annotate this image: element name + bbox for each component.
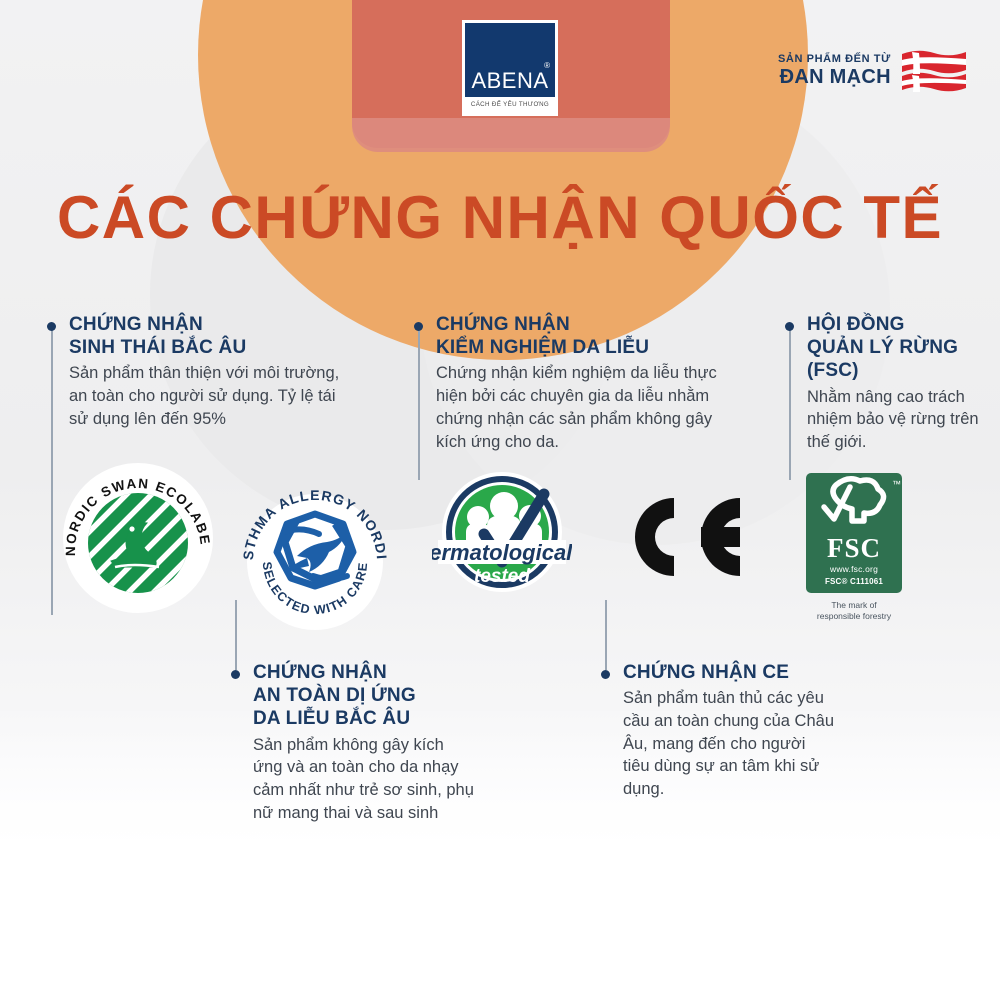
abena-logo: ABENA ® CÁCH ĐỂ YÊU THƯƠNG	[462, 20, 558, 116]
info-block-body: Sản phẩm không gây kích ứng và an toàn c…	[253, 734, 476, 825]
derm-label-line1: Dermatologically	[432, 540, 572, 565]
bullet-icon	[785, 322, 794, 331]
fsc-caption: The mark of responsible forestry	[806, 600, 902, 622]
background-white-fade	[0, 700, 1000, 1000]
origin-line-1: SẢN PHẨM ĐẾN TỪ	[778, 53, 891, 67]
fsc-tm-mark: ™	[892, 479, 901, 489]
background-coral-card-foot	[352, 118, 670, 152]
badge-dermatologically-tested: Dermatologically tested	[432, 470, 572, 590]
infographic-page: ABENA ® CÁCH ĐỂ YÊU THƯƠNG SẢN PHẨM ĐẾN …	[0, 0, 1000, 1000]
info-block-heading: CHỨNG NHẬN AN TOÀN DỊ ỨNG DA LIỄU BẮC ÂU	[253, 661, 476, 731]
page-title: CÁC CHỨNG NHẬN QUỐC TẾ	[0, 183, 1000, 252]
derm-label-line2: tested	[474, 566, 530, 587]
fsc-license-code: FSC® C111061	[806, 577, 902, 586]
info-block-body: Nhằm nâng cao trách nhiệm bảo vệ rừng tr…	[807, 386, 980, 454]
fsc-url: www.fsc.org	[806, 564, 902, 574]
bullet-icon	[47, 322, 56, 331]
info-block-heading: CHỨNG NHẬN KIỂM NGHIỆM DA LIỄU	[436, 313, 729, 359]
abena-logo-box: ABENA ®	[465, 23, 555, 97]
registered-trademark-icon: ®	[544, 61, 550, 70]
bullet-icon	[414, 322, 423, 331]
info-block-heading: CHỨNG NHẬN SINH THÁI BẮC ÂU	[69, 313, 347, 359]
asthma-allergy-nordic-icon: ASTHMA ALLERGY NORDIC SELECTED WITH CARE	[235, 480, 395, 640]
info-block-fsc: HỘI ĐỒNG QUẢN LÝ RỪNG (FSC) Nhằm nâng ca…	[785, 313, 980, 454]
info-block-dermatological-test: CHỨNG NHẬN KIỂM NGHIỆM DA LIỄU Chứng nhậ…	[414, 313, 729, 453]
info-block-body: Chứng nhận kiểm nghiệm da liễu thực hiện…	[436, 362, 729, 453]
info-block-asthma-allergy-nordic: CHỨNG NHẬN AN TOÀN DỊ ỨNG DA LIỄU BẮC ÂU…	[231, 661, 476, 825]
badge-nordic-swan-ecolabel: NORDIC SWAN ECOLABEL	[63, 463, 213, 613]
info-block-body: Sản phẩm tuân thủ các yêu cầu an toàn ch…	[623, 687, 836, 801]
info-block-heading: HỘI ĐỒNG QUẢN LÝ RỪNG (FSC)	[807, 313, 980, 383]
info-block-heading: CHỨNG NHẬN CE	[623, 661, 836, 684]
denmark-flag-icon	[900, 48, 968, 94]
info-block-body: Sản phẩm thân thiện với môi trường, an t…	[69, 362, 347, 430]
fsc-wordmark: FSC	[806, 535, 902, 562]
ce-mark-icon	[628, 569, 746, 586]
badge-asthma-allergy-nordic: ASTHMA ALLERGY NORDIC SELECTED WITH CARE	[235, 480, 395, 640]
fsc-card: ™ FSC www.fsc.org FSC® C111061	[806, 473, 902, 593]
nordic-swan-ecolabel-icon: NORDIC SWAN ECOLABEL	[63, 463, 213, 613]
info-block-nordic-swan-ecolabel: CHỨNG NHẬN SINH THÁI BẮC ÂU Sản phẩm thâ…	[47, 313, 347, 431]
badge-ce-mark	[628, 492, 746, 587]
info-block-ce: CHỨNG NHẬN CE Sản phẩm tuân thủ các yêu …	[601, 661, 836, 801]
connector-line-ce	[605, 600, 607, 670]
origin-line-2: ĐAN MẠCH	[778, 66, 891, 89]
abena-logo-wordmark: ABENA	[471, 70, 548, 97]
dermatologically-tested-icon: Dermatologically tested	[432, 470, 572, 590]
origin-denmark: SẢN PHẨM ĐẾN TỪ ĐAN MẠCH	[778, 48, 968, 94]
bullet-icon	[231, 670, 240, 679]
abena-logo-tagline: CÁCH ĐỂ YÊU THƯƠNG	[465, 97, 555, 113]
fsc-tree-check-icon: ™	[806, 473, 902, 535]
bullet-icon	[601, 670, 610, 679]
badge-fsc: ™ FSC www.fsc.org FSC® C111061 The mark …	[806, 473, 902, 622]
